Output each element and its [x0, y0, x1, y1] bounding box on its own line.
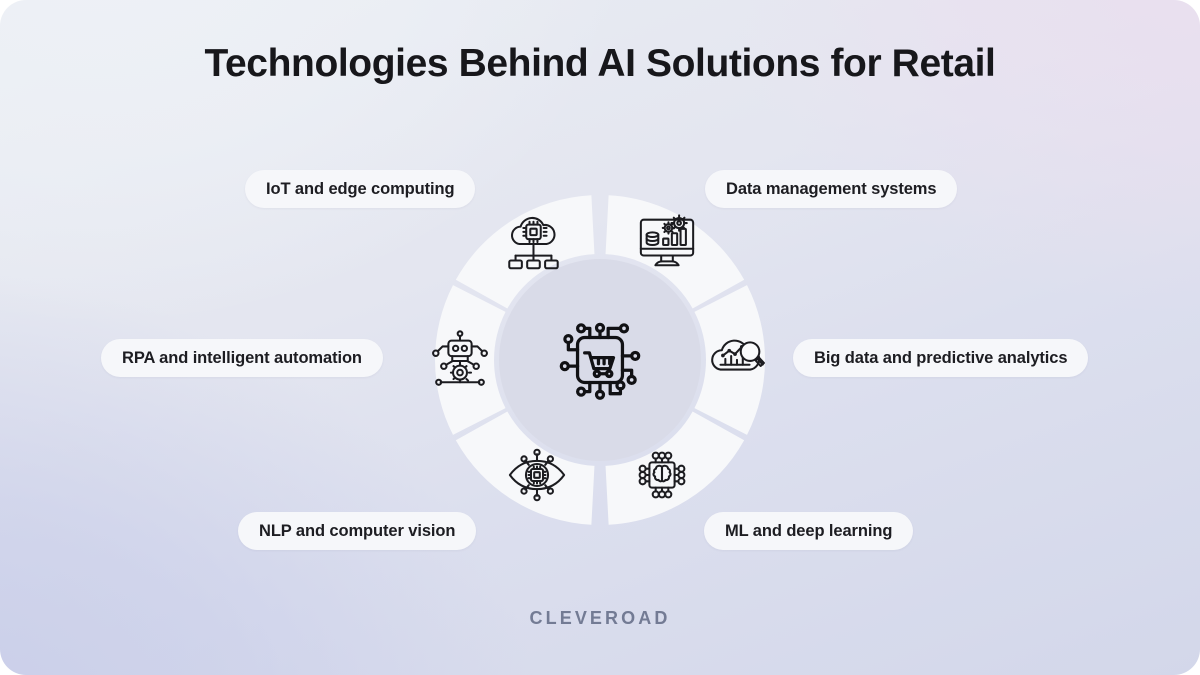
eye-chip-icon	[506, 444, 568, 506]
shopping-cart-chip-icon	[551, 311, 649, 409]
cloud-analytics-magnifier-icon	[705, 325, 767, 387]
monitor-database-gears-icon	[636, 210, 698, 272]
brain-chip-icon	[631, 444, 693, 506]
robot-gear-icon	[429, 329, 491, 391]
page-title: Technologies Behind AI Solutions for Ret…	[0, 42, 1200, 86]
infographic-canvas: Technologies Behind AI Solutions for Ret…	[0, 0, 1200, 675]
label-big-data-and-predictive-analytics[interactable]: Big data and predictive analytics	[793, 339, 1088, 377]
cloud-chip-network-icon	[502, 213, 564, 275]
label-data-management-systems[interactable]: Data management systems	[705, 170, 957, 208]
label-nlp-and-computer-vision[interactable]: NLP and computer vision	[238, 512, 476, 550]
label-iot-and-edge-computing[interactable]: IoT and edge computing	[245, 170, 475, 208]
label-rpa-and-intelligent-automation[interactable]: RPA and intelligent automation	[101, 339, 383, 377]
cleveroad-logo: CLEVEROAD	[0, 608, 1200, 629]
label-ml-and-deep-learning[interactable]: ML and deep learning	[704, 512, 913, 550]
